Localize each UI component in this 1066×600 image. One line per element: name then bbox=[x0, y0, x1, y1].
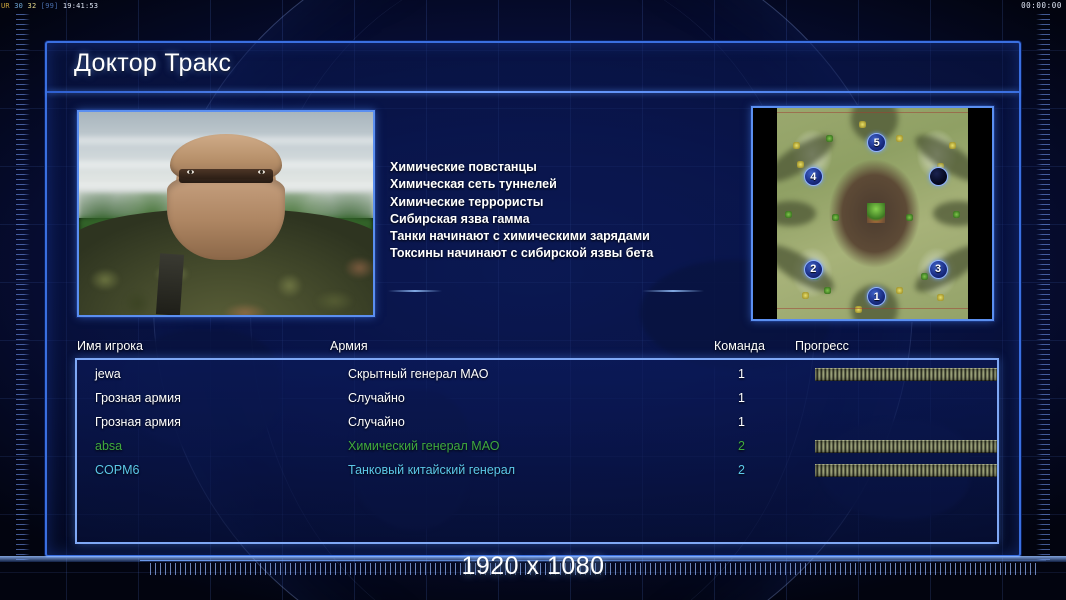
description-line: Сибирская язва гамма bbox=[390, 211, 653, 228]
map-spawn-point-3[interactable]: 3 bbox=[929, 260, 948, 279]
cell-team: 2 bbox=[738, 463, 745, 477]
table-row[interactable]: jewaСкрытный генерал МАО1 bbox=[77, 364, 997, 388]
cell-progress-bar bbox=[815, 464, 997, 477]
description-line: Химическая сеть туннелей bbox=[390, 176, 653, 193]
description-line: Химические террористы bbox=[390, 194, 653, 211]
cell-player-name: jewa bbox=[95, 367, 121, 381]
resolution-overlay-label: 1920 x 1080 bbox=[0, 552, 1066, 581]
cell-team: 2 bbox=[738, 439, 745, 453]
cell-army: Случайно bbox=[348, 415, 405, 429]
table-row[interactable]: COPM6Танковый китайский генерал2 bbox=[77, 460, 997, 484]
portrait-eyes bbox=[179, 169, 273, 183]
description-line: Токсины начинают с сибирской язвы бета bbox=[390, 245, 653, 262]
player-table-body: jewaСкрытный генерал МАО1Грозная армияСл… bbox=[77, 360, 997, 542]
match-timer: 00:00:00 bbox=[1021, 0, 1062, 12]
ruler-left bbox=[16, 14, 30, 562]
debug-token-1: 30 bbox=[14, 2, 23, 10]
debug-token-2: 32 bbox=[28, 2, 37, 10]
description-accent-right bbox=[642, 290, 704, 292]
column-header-army: Армия bbox=[330, 339, 368, 353]
map-preview-inner: 54231 bbox=[753, 108, 992, 319]
cell-army: Случайно bbox=[348, 391, 405, 405]
cell-army: Химический генерал МАО bbox=[348, 439, 499, 453]
description-line: Танки начинают с химическими зарядами bbox=[390, 228, 653, 245]
cell-player-name: absa bbox=[95, 439, 122, 453]
table-row[interactable]: Грозная армияСлучайно1 bbox=[77, 412, 997, 436]
description-accent-left bbox=[388, 290, 442, 292]
portrait-strap bbox=[156, 253, 184, 315]
info-row: Химические повстанцы Химическая сеть тун… bbox=[62, 106, 1008, 321]
title-bar: Доктор Тракс bbox=[47, 43, 1019, 91]
debug-status-text: UR 30 32 [99] 19:41:53 bbox=[1, 0, 98, 12]
debug-token-0: UR bbox=[1, 2, 10, 10]
description-lines: Химические повстанцы Химическая сеть тун… bbox=[390, 159, 653, 263]
description-line: Химические повстанцы bbox=[390, 159, 653, 176]
cell-progress-bar bbox=[815, 368, 997, 381]
title-divider bbox=[47, 91, 1019, 93]
cell-team: 1 bbox=[738, 367, 745, 381]
ruler-right bbox=[1036, 14, 1050, 562]
column-header-player-name: Имя игрока bbox=[77, 339, 143, 353]
debug-token-4: 19:41:53 bbox=[63, 2, 98, 10]
map-center-structure bbox=[867, 203, 885, 223]
cell-player-name: Грозная армия bbox=[95, 415, 181, 429]
map-preview[interactable]: 54231 bbox=[751, 106, 994, 321]
map-spawn-point-2[interactable]: 2 bbox=[804, 260, 823, 279]
cell-progress-bar bbox=[815, 440, 997, 453]
main-panel: Доктор Тракс bbox=[45, 41, 1021, 557]
player-table: jewaСкрытный генерал МАО1Грозная армияСл… bbox=[75, 358, 999, 544]
general-portrait bbox=[77, 110, 375, 317]
cell-army: Скрытный генерал МАО bbox=[348, 367, 488, 381]
table-row[interactable]: Грозная армияСлучайно1 bbox=[77, 388, 997, 412]
cell-team: 1 bbox=[738, 415, 745, 429]
cell-player-name: COPM6 bbox=[95, 463, 139, 477]
column-header-team: Команда bbox=[714, 339, 765, 353]
portrait-artwork bbox=[79, 112, 373, 315]
column-header-progress: Прогресс bbox=[795, 339, 849, 353]
top-status-bar: UR 30 32 [99] 19:41:53 00:00:00 bbox=[0, 0, 1066, 12]
cell-army: Танковый китайский генерал bbox=[348, 463, 515, 477]
cell-player-name: Грозная армия bbox=[95, 391, 181, 405]
player-table-header: Имя игрока Армия Команда Прогресс bbox=[77, 339, 997, 359]
table-row[interactable]: absaХимический генерал МАО2 bbox=[77, 436, 997, 460]
map-letterbox-right bbox=[968, 108, 992, 319]
debug-token-3: [99] bbox=[41, 2, 59, 10]
page-title: Доктор Тракс bbox=[74, 49, 231, 78]
cell-team: 1 bbox=[738, 391, 745, 405]
map-spawn-point-4[interactable]: 4 bbox=[804, 167, 823, 186]
general-description: Химические повстанцы Химическая сеть тун… bbox=[384, 110, 742, 317]
map-spawn-point-empty[interactable] bbox=[929, 167, 948, 186]
map-letterbox-left bbox=[753, 108, 777, 319]
